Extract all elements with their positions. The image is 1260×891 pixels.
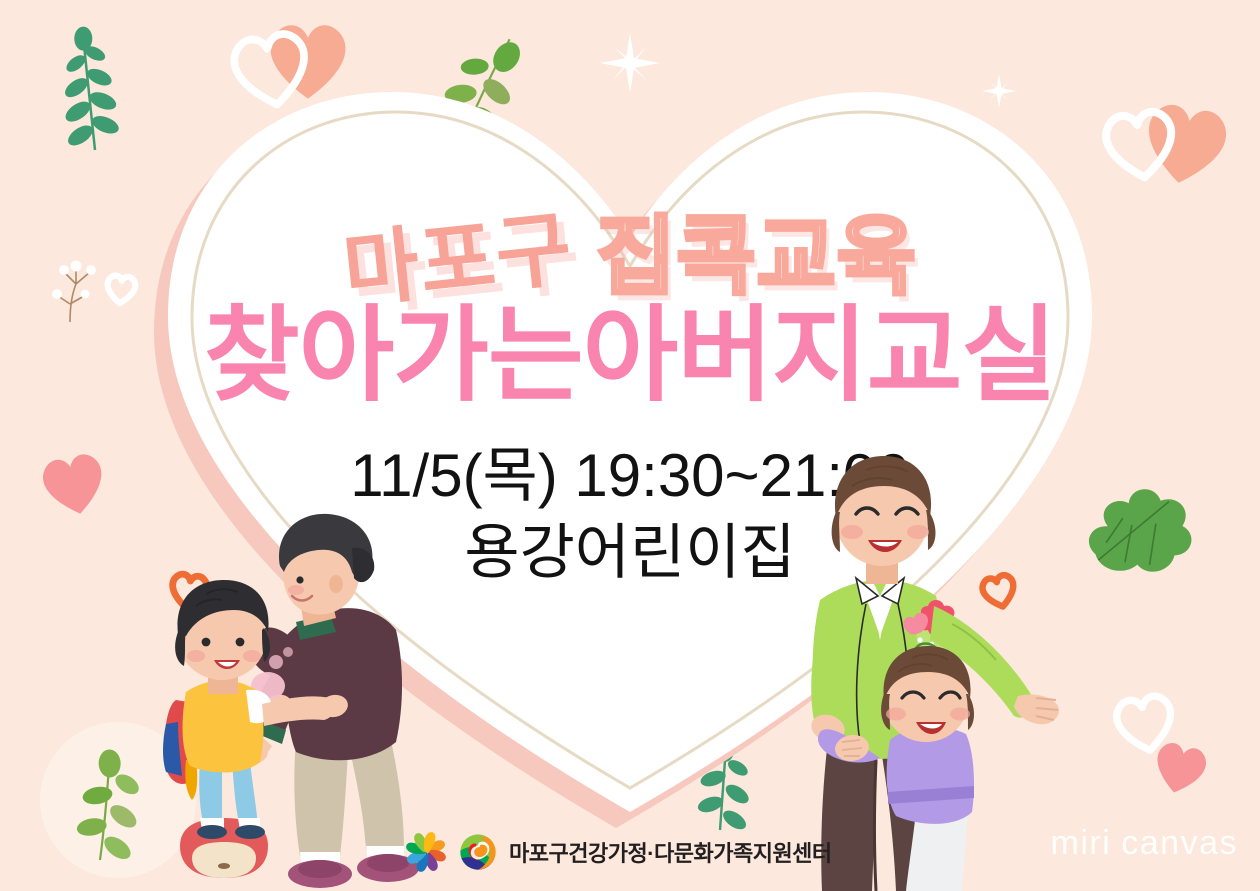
footer-branding: 마포구건강가정·다문화가족지원센터 xyxy=(405,831,832,873)
pinwheel-logo xyxy=(405,831,447,873)
organization-name: 마포구건강가정·다문화가족지원센터 xyxy=(509,836,832,868)
illustration-layer xyxy=(0,0,1260,891)
heart-circle-logo xyxy=(457,831,499,873)
watermark-word-two: canvas xyxy=(1121,824,1238,862)
miricanvas-watermark: miricanvas xyxy=(1051,824,1239,863)
watermark-word-one: miri xyxy=(1051,824,1112,862)
illustration-father-and-child-washing-hands xyxy=(163,514,419,888)
right-adult-open-hand xyxy=(1014,694,1059,724)
illustration-father-hugged-by-child xyxy=(808,456,1059,891)
poster-canvas: 마포구 집콕교육 찾아가는아버지교실 11/5(목) 19:30~21:00 용… xyxy=(0,0,1260,891)
